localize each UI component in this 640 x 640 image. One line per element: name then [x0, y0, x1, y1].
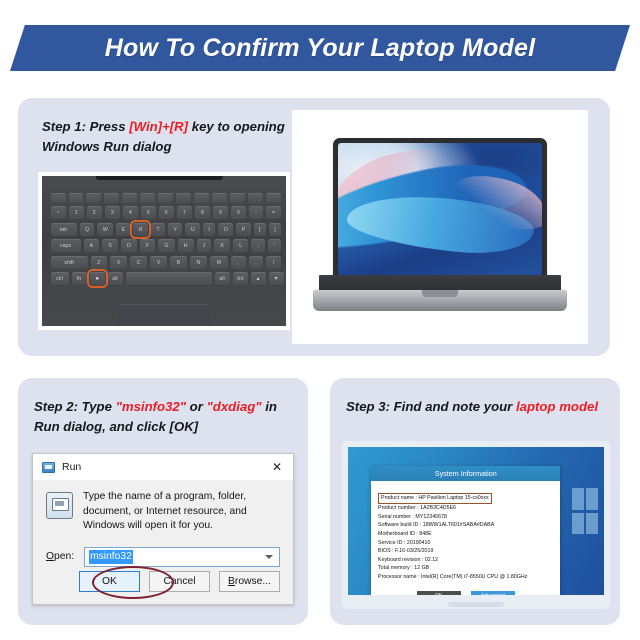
key-q: Q	[80, 223, 95, 236]
key-semicolon: ;	[251, 239, 265, 252]
laptop-product-photo: MacBook Air	[292, 110, 588, 344]
sysinfo-line-serial-number: Serial number : MY12345678	[378, 513, 553, 522]
key-7: 7	[177, 206, 192, 219]
close-icon[interactable]: ✕	[261, 454, 293, 480]
key-capslock: caps	[51, 239, 81, 252]
key-f1	[69, 193, 84, 203]
key-slash: /	[266, 256, 281, 269]
keyboard-row-bottom-letters: shift Z X C V B N M , . /	[51, 256, 282, 269]
key-tab: tab	[51, 223, 77, 236]
key-n: N	[190, 256, 207, 269]
keyboard-hinge	[96, 176, 223, 180]
key-b: B	[170, 256, 187, 269]
run-open-row: Open: msinfo32	[33, 534, 293, 567]
run-app-icon	[46, 492, 73, 519]
key-k: K	[214, 239, 230, 252]
run-dialog-titlebar: Run ✕	[33, 454, 293, 480]
windows-logo-icon	[572, 488, 598, 534]
key-period: .	[249, 256, 264, 269]
key-shift-left: shift	[51, 256, 88, 269]
key-p: P	[236, 223, 250, 236]
key-f: F	[140, 239, 155, 252]
key-f10	[230, 193, 245, 203]
keyboard-photo: ~ 1 2 3 4 5 6 7 8 9 0 - =	[38, 172, 290, 330]
sysinfo-line-product-name: Product name : HP Pavilion Laptop 15-cs0…	[378, 493, 492, 504]
key-bracket-right: ]	[269, 223, 281, 236]
key-comma: ,	[231, 256, 246, 269]
key-space	[126, 272, 212, 285]
key-u: U	[185, 223, 200, 236]
key-equal: =	[266, 206, 281, 219]
sysinfo-line-service-id: Service ID : 20190410	[378, 539, 553, 548]
step-3-prefix: Step 3: Find and note your	[346, 399, 516, 414]
windows-desktop: System Information Product name : HP Pav…	[348, 447, 604, 595]
key-ctrl-left: ctrl	[51, 272, 69, 285]
run-dialog-title: Run	[62, 461, 81, 473]
key-0: 0	[231, 206, 246, 219]
key-f11	[248, 193, 263, 203]
browse-button-accel: B	[228, 576, 235, 587]
step-1-panel: Step 1: Press [Win]+[R] key to opening W…	[18, 98, 610, 356]
key-f5	[140, 193, 155, 203]
browse-button-rest: rowse...	[235, 576, 271, 587]
cancel-button[interactable]: Cancel	[149, 571, 210, 592]
sysinfo-advanced-button[interactable]: Advanced	[471, 591, 515, 595]
sysinfo-line-bios: BIOS : F.16-03/25/2019	[378, 547, 553, 556]
laptop-base-notch	[422, 290, 458, 297]
run-window-icon	[42, 462, 55, 473]
keyboard-row-numbers: ~ 1 2 3 4 5 6 7 8 9 0 - =	[51, 206, 282, 219]
key-4: 4	[123, 206, 138, 219]
sysinfo-ok-button[interactable]: OK	[417, 591, 461, 595]
key-s: S	[102, 239, 118, 252]
key-m: M	[210, 256, 228, 269]
key-v: V	[150, 256, 167, 269]
key-5: 5	[141, 206, 156, 219]
step-2-panel: Step 2: Type "msinfo32" or "dxdiag" in R…	[18, 378, 308, 625]
key-bracket-left: [	[254, 223, 266, 236]
step-2-highlight-dxdiag: "dxdiag"	[207, 399, 262, 414]
key-3: 3	[105, 206, 120, 219]
system-information-window: System Information Product name : HP Pav…	[371, 466, 560, 595]
laptop-base	[313, 290, 568, 311]
key-j: J	[197, 239, 212, 252]
key-9: 9	[213, 206, 228, 219]
keyboard-rows: ~ 1 2 3 4 5 6 7 8 9 0 - =	[51, 193, 282, 289]
run-dialog-body: Type the name of a program, folder, docu…	[33, 480, 293, 534]
run-dialog-description: Type the name of a program, folder, docu…	[83, 490, 280, 534]
key-x: X	[110, 256, 127, 269]
run-open-label-rest: pen:	[54, 551, 74, 562]
key-esc	[51, 193, 66, 203]
laptop-lid: MacBook Air	[333, 138, 546, 290]
key-h: H	[178, 239, 194, 252]
system-information-titlebar: System Information	[371, 466, 560, 481]
key-windows-highlighted: ■	[90, 272, 105, 285]
key-z: Z	[91, 256, 108, 269]
key-f9	[212, 193, 227, 203]
key-f2	[86, 193, 101, 203]
sysinfo-line-product-number: Product number : 1A2B3C4D5E6	[378, 504, 553, 513]
run-open-combobox[interactable]: msinfo32	[84, 547, 280, 567]
system-information-body: Product name : HP Pavilion Laptop 15-cs0…	[371, 481, 560, 586]
keyboard-row-function	[51, 193, 282, 203]
key-ctrl-right: ctrl	[233, 272, 248, 285]
browse-button[interactable]: Browse...	[219, 571, 280, 592]
key-tilde: ~	[51, 206, 66, 219]
key-f7	[176, 193, 191, 203]
key-minus: -	[249, 206, 263, 219]
key-6: 6	[159, 206, 174, 219]
run-open-label-accel: O	[46, 551, 54, 562]
key-f8	[194, 193, 209, 203]
key-w: W	[97, 223, 113, 236]
key-y: Y	[168, 223, 182, 236]
step-3-panel: Step 3: Find and note your laptop model …	[330, 378, 620, 625]
system-information-buttons: OK Advanced	[371, 587, 560, 595]
step-1-prefix: Step 1: Press	[42, 119, 129, 134]
key-i: I	[203, 223, 215, 236]
step-2-highlight-msinfo32: "msinfo32"	[116, 399, 186, 414]
sysinfo-line-software-build-id: Software build ID : 18WW1ALT601#SABA#DAB…	[378, 521, 553, 530]
windows-logo-pane-1	[572, 488, 584, 510]
key-fn: fn	[72, 272, 87, 285]
step-2-instruction: Step 2: Type "msinfo32" or "dxdiag" in R…	[34, 397, 300, 437]
step-2-prefix: Step 2: Type	[34, 399, 116, 414]
page-title: How To Confirm Your Laptop Model	[105, 34, 535, 63]
key-f4	[122, 193, 137, 203]
run-dialog: Run ✕ Type the name of a program, folder…	[32, 453, 294, 605]
monitor-stand	[448, 602, 504, 607]
key-1: 1	[69, 206, 84, 219]
run-dialog-buttons: OK Cancel Browse...	[33, 571, 293, 592]
step-1-highlight: [Win]+[R]	[129, 119, 188, 134]
keyboard-row-space: ctrl fn ■ alt alt ctrl ▲ ▼	[51, 272, 282, 285]
step-3-instruction: Step 3: Find and note your laptop model	[346, 397, 614, 417]
key-d: D	[121, 239, 137, 252]
laptop-screen-photo: System Information Product name : HP Pav…	[342, 441, 610, 609]
key-r-highlighted: R	[133, 223, 148, 236]
laptop-keyboard-deck	[319, 275, 562, 291]
key-alt-left: alt	[108, 272, 123, 285]
ok-button[interactable]: OK	[79, 571, 140, 592]
run-open-input-value[interactable]: msinfo32	[89, 550, 133, 564]
keyboard-body: ~ 1 2 3 4 5 6 7 8 9 0 - =	[42, 176, 286, 326]
infographic-page: How To Confirm Your Laptop Model Step 1:…	[0, 0, 640, 640]
laptop-screen-wallpaper	[338, 143, 541, 281]
key-quote: '	[268, 239, 281, 252]
windows-logo-pane-4	[586, 513, 598, 535]
key-arrow-up: ▲	[251, 272, 266, 285]
step-2-middle: or	[186, 399, 207, 414]
key-f12	[266, 193, 281, 203]
key-f6	[158, 193, 173, 203]
sysinfo-line-keyboard-revision: Keyboard revision : 02.12	[378, 556, 553, 565]
key-8: 8	[195, 206, 210, 219]
key-e: E	[116, 223, 130, 236]
header-banner: How To Confirm Your Laptop Model	[10, 25, 630, 71]
windows-logo-pane-2	[586, 488, 598, 510]
key-arrow-down: ▼	[269, 272, 284, 285]
sysinfo-line-total-memory: Total memory : 12 GB	[378, 564, 553, 573]
chevron-down-icon[interactable]	[265, 555, 273, 559]
windows-logo-pane-3	[572, 513, 584, 535]
key-2: 2	[87, 206, 102, 219]
sysinfo-line-motherboard-id: Motherboard ID : 848E	[378, 530, 553, 539]
key-t: T	[151, 223, 165, 236]
sysinfo-line-processor-name: Processor name : Intel(R) Core(TM) i7-85…	[378, 573, 553, 582]
keyboard-row-home: caps A S D F G H J K L ; '	[51, 239, 282, 252]
key-g: G	[158, 239, 174, 252]
trackpad	[118, 304, 211, 324]
step-1-instruction: Step 1: Press [Win]+[R] key to opening W…	[42, 117, 332, 157]
keyboard-row-qwerty: tab Q W E R T Y U I O P [ ]	[51, 223, 282, 236]
key-f3	[104, 193, 119, 203]
key-a: A	[84, 239, 100, 252]
step-3-highlight: laptop model	[516, 399, 598, 414]
key-l: L	[233, 239, 248, 252]
key-c: C	[130, 256, 147, 269]
key-o: O	[218, 223, 233, 236]
key-alt-right: alt	[215, 272, 230, 285]
run-open-label: Open:	[46, 551, 74, 562]
